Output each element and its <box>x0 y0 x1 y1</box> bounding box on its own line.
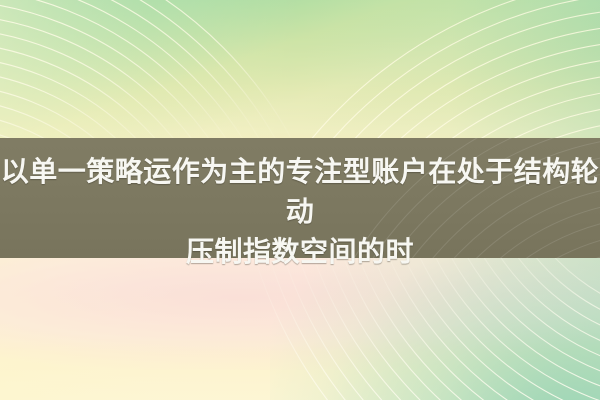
headline-text: 以单一策略运作为主的专注型账户在处于结构轮动 压制指数空间的时 <box>0 138 600 272</box>
headline-band: 以单一策略运作为主的专注型账户在处于结构轮动 压制指数空间的时 <box>0 138 600 258</box>
banner-image: 以单一策略运作为主的专注型账户在处于结构轮动 压制指数空间的时 <box>0 0 600 400</box>
headline-line-2: 压制指数空间的时 <box>0 232 600 272</box>
headline-line-1: 以单一策略运作为主的专注型账户在处于结构轮动 <box>0 138 600 232</box>
